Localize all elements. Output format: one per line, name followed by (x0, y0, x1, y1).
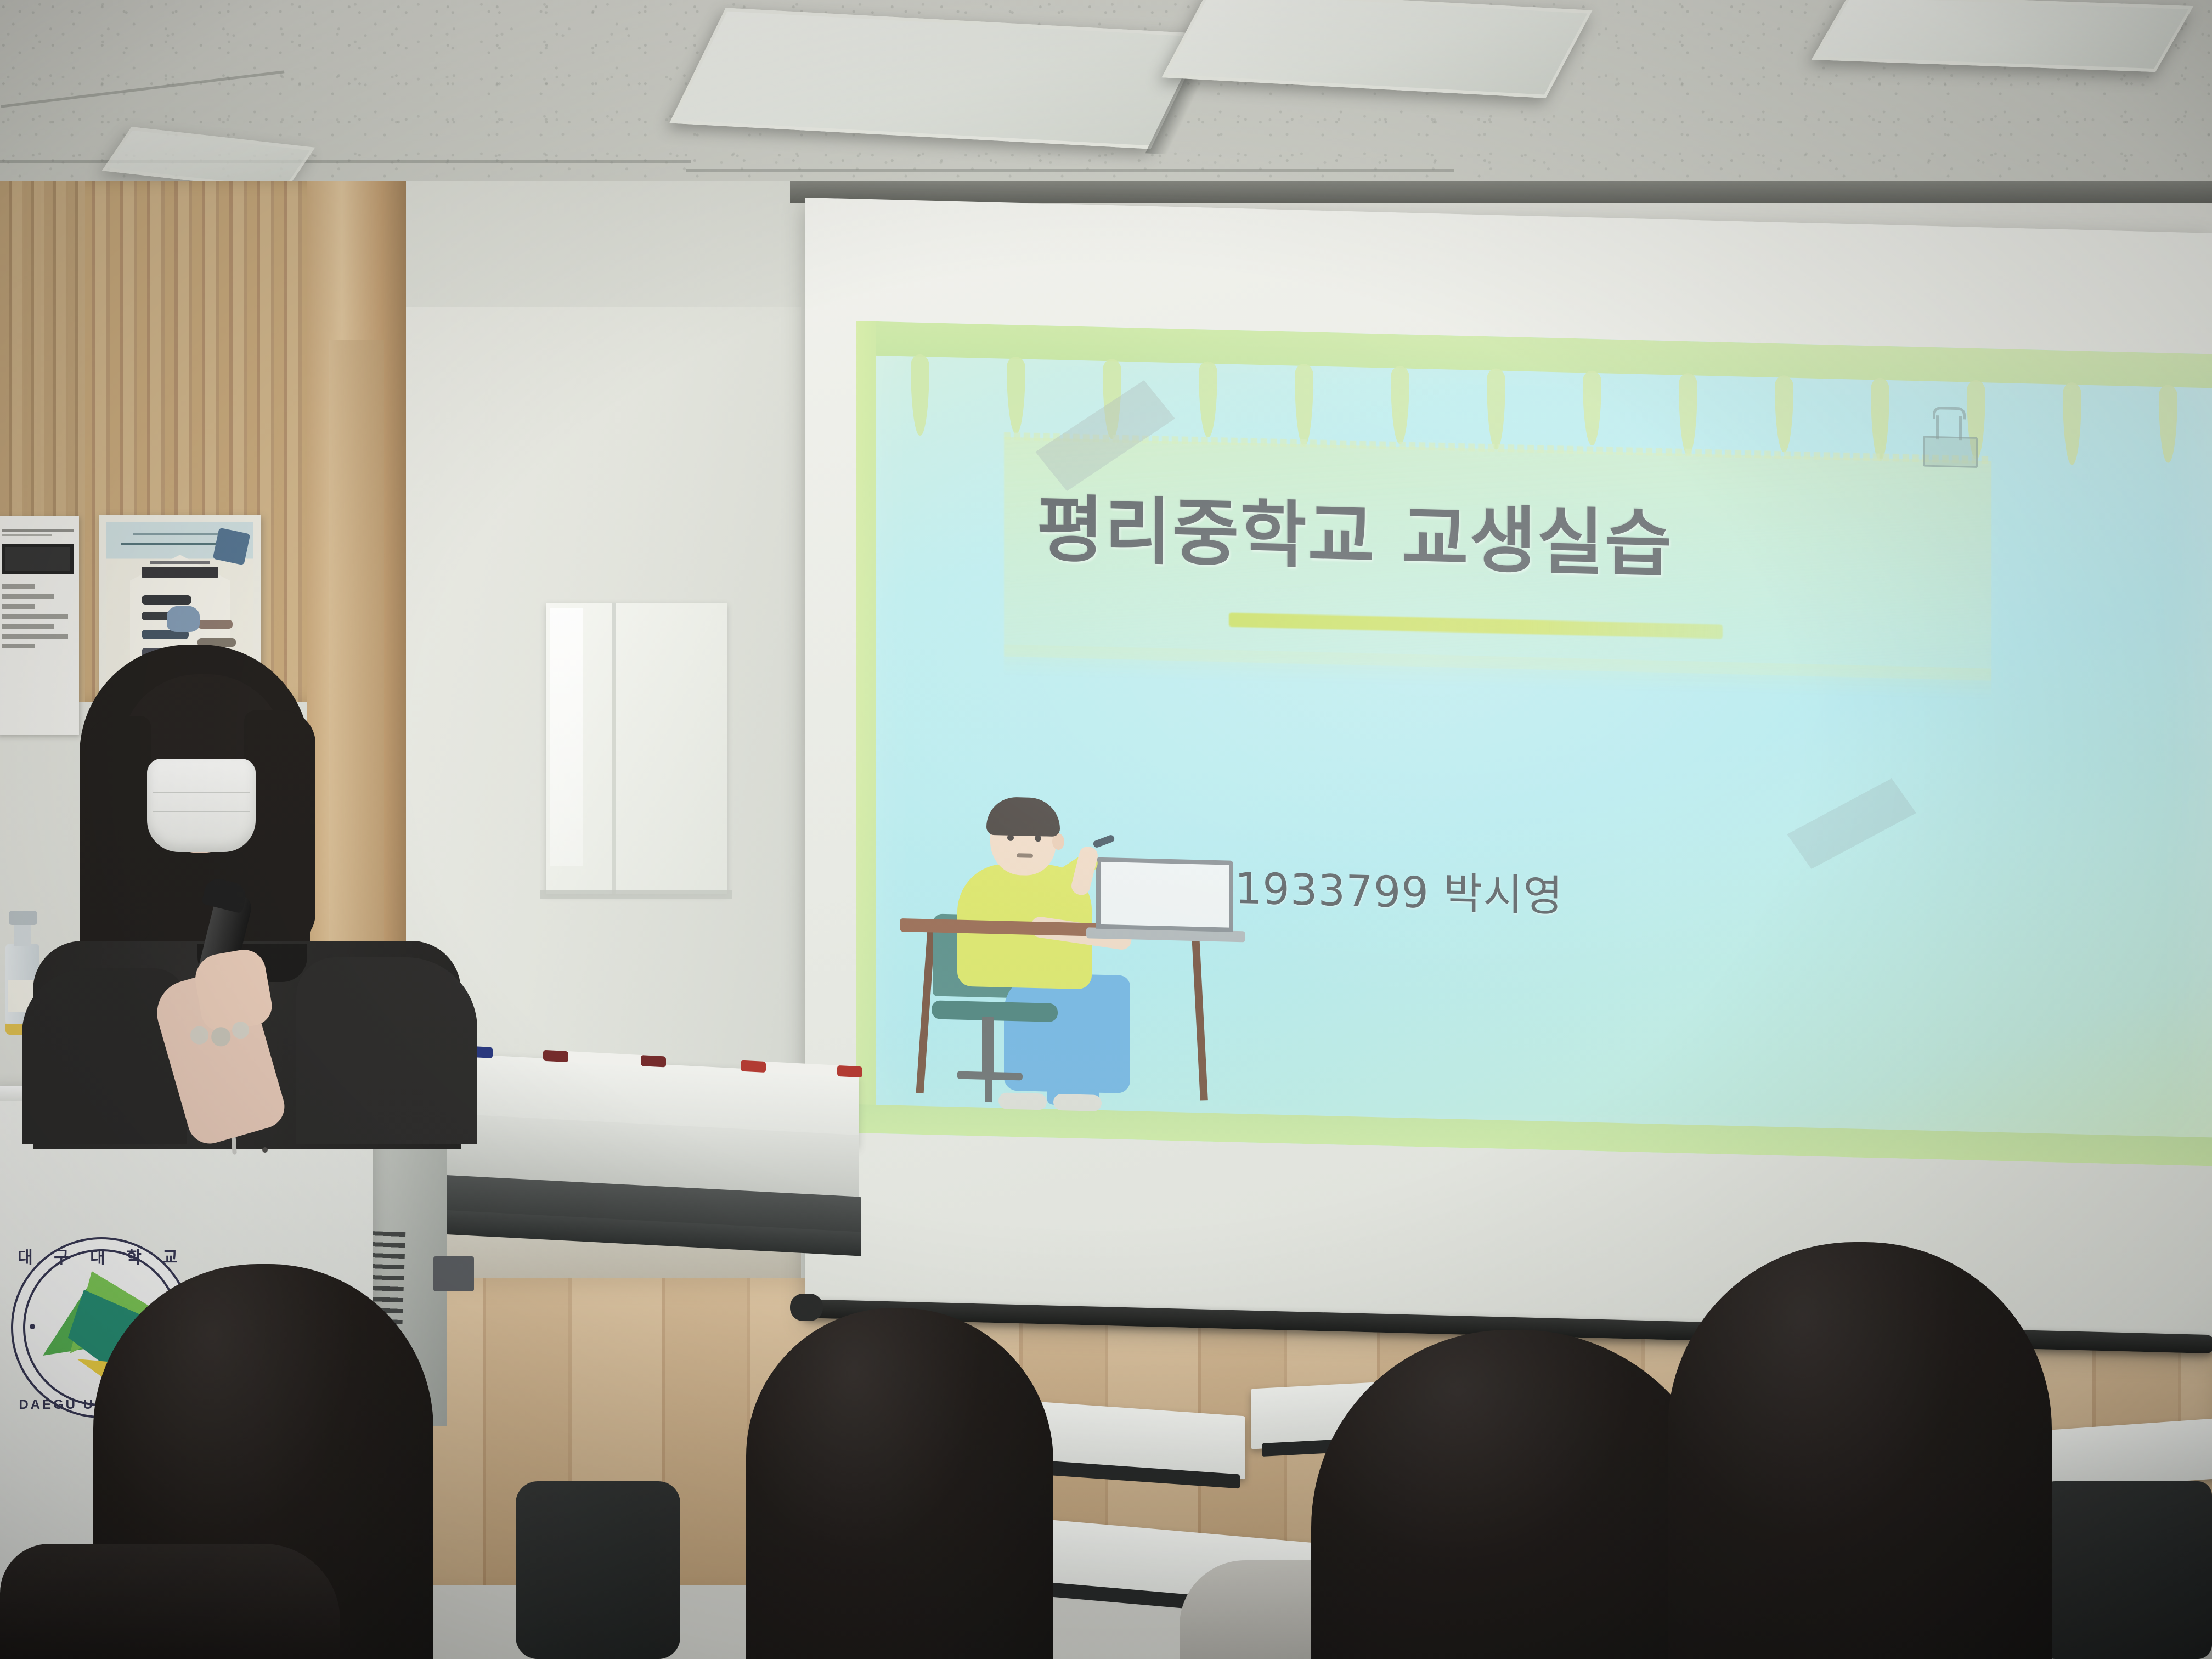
poster-pill (142, 595, 191, 605)
poster-pill (198, 620, 233, 629)
notice-line (2, 624, 54, 629)
notice-line (2, 594, 54, 599)
classroom-chair (2041, 1481, 2212, 1659)
poster-title-bar (142, 567, 218, 578)
light-panel-rim (1812, 0, 2193, 72)
hanging-bulb-icon (1487, 368, 1505, 450)
pen-icon (1092, 834, 1115, 848)
slide-subtitle: 21933799 박시영 (1207, 854, 1563, 924)
sanitizer-neck (14, 923, 31, 946)
mask-fold (153, 811, 250, 812)
mask-fold (153, 792, 250, 793)
classroom-chair (516, 1481, 680, 1659)
poster-corner-graphic (213, 527, 251, 565)
hanging-bulb-icon (1583, 370, 1601, 445)
binder-clip-icon (1923, 407, 1978, 468)
chair-base-post (985, 1076, 992, 1102)
notice-line (2, 634, 68, 639)
door-window (546, 603, 727, 894)
marker-icon (757, 1061, 845, 1076)
hanging-bulb-icon (1199, 361, 1217, 437)
notice-subrule (2, 534, 52, 536)
hanging-bulb-icon (2063, 382, 2081, 465)
window-mullion (612, 603, 616, 894)
window-glare (550, 608, 583, 866)
presenter (33, 645, 461, 1100)
hanging-bulb-icon (1679, 373, 1697, 456)
notice-line (2, 614, 68, 619)
face-mask (147, 759, 256, 852)
laptop-icon (1096, 857, 1233, 932)
projection-screen-housing (790, 181, 2212, 203)
poster-subtitle-bar (150, 561, 209, 564)
hanging-bulb-icon (911, 354, 929, 436)
door-window-sill (540, 890, 732, 899)
chair-post (982, 1017, 994, 1078)
ceiling-seam (686, 169, 1454, 172)
presenter-shoulder-right (296, 957, 477, 1144)
notice-line (2, 644, 35, 648)
projection-screen-bar-knob (790, 1294, 823, 1321)
presenter-hair-right (244, 710, 315, 946)
audience-head (746, 1308, 1053, 1659)
seal-separator-dot (30, 1324, 35, 1329)
marker-icon (560, 1051, 647, 1066)
ceiling-seam (0, 160, 691, 163)
seal-korean-text: 대 구 대 학 교 (11, 1244, 192, 1268)
slide-left-border (856, 321, 876, 1133)
ceiling-light-panel (1812, 0, 2193, 72)
classroom-presentation-photo: 평리중학교 교생실습 21933799 박시영 (0, 0, 2212, 1659)
marker-cap-icon (741, 1060, 766, 1073)
chair-seat (932, 1000, 1058, 1022)
notice-rule (2, 529, 74, 532)
figure-mouth (1017, 853, 1033, 858)
poster-micro-text (133, 533, 227, 535)
audience-shoulder (0, 1544, 340, 1659)
presenter-hair-left (85, 716, 151, 946)
marker-cap-icon (641, 1055, 666, 1067)
hanging-bulb-icon (1295, 364, 1313, 447)
hanging-bulb-icon (1871, 377, 1889, 461)
notice-line (2, 584, 35, 589)
notice-banner (2, 544, 74, 574)
marker-cap-icon (543, 1050, 568, 1062)
figure-shoe (998, 1092, 1047, 1110)
figure-hair (986, 797, 1060, 837)
figure-shoe (1053, 1094, 1102, 1111)
hanging-bulb-icon (1391, 366, 1409, 444)
notice-line (2, 604, 35, 609)
hanging-bulb-icon (1775, 375, 1793, 453)
poster-globe-icon (167, 606, 200, 632)
projected-slide: 평리중학교 교생실습 21933799 박시영 (856, 321, 2212, 1166)
hanging-bulb-icon (2159, 385, 2177, 463)
hanging-bulb-icon (1007, 357, 1025, 434)
lectern-control-badge[interactable] (433, 1256, 474, 1291)
marker-cap-icon (837, 1065, 862, 1077)
desk-leg (1192, 935, 1208, 1100)
clip-body (1923, 436, 1978, 468)
slide-illustration-student-at-desk (900, 791, 1240, 1107)
audience-head (1668, 1242, 2052, 1659)
washi-tape-icon (1785, 776, 1918, 872)
